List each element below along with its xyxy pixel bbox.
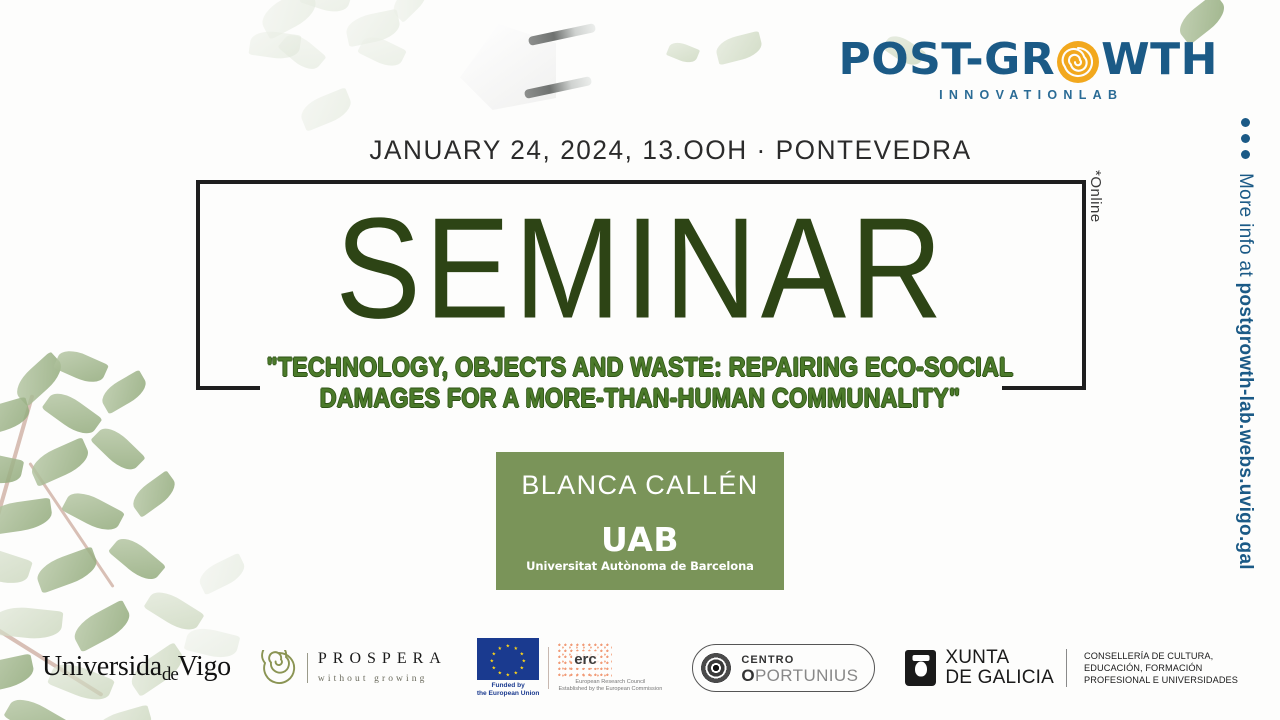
logo-eu-erc: Funded by the European Union erc Europea… [477, 644, 663, 692]
more-info-link[interactable]: postgrowth-lab.webs.uvigo.gal [1235, 283, 1256, 570]
logo-tagline: INNOVATIONLAB [838, 88, 1218, 102]
erc-caption: European Research Council Established by… [558, 679, 662, 694]
more-info-url[interactable]: More info at postgrowth-lab.webs.uvigo.g… [1234, 173, 1256, 570]
divider [1066, 649, 1067, 687]
oportunius-line1: CENTRO [741, 654, 794, 666]
xunta-dept-line1: CONSELLERÍA DE CULTURA, [1084, 651, 1213, 661]
more-info-prefix: More info at [1235, 173, 1256, 283]
eu-caption: Funded by the European Union [477, 682, 540, 698]
oportunius-line2: OPORTUNIUS [741, 666, 858, 685]
uvigo-part3: Vigo [178, 651, 231, 682]
xunta-name: XUNTA DE GALICIA [945, 648, 1054, 688]
erc-caption-line2: Established by the European Commission [558, 686, 662, 692]
post-growth-logo: POST-GR WTH INNOVATIONLAB [838, 38, 1218, 102]
erc-caption-line1: European Research Council [575, 679, 645, 685]
leaf-decor [714, 31, 764, 65]
eu-funding-logo: Funded by the European Union [477, 638, 540, 698]
online-note: *Online [1087, 170, 1104, 223]
prospera-name: PROSPERA [318, 650, 447, 667]
speaker-name: BLANCA CALLÉN [521, 470, 758, 501]
oportunius-rest: PORTUNIUS [755, 666, 858, 685]
divider [307, 653, 308, 683]
oportunius-initial: O [741, 666, 755, 685]
uvigo-wordmark: UniversidadeVigo [42, 651, 231, 686]
seminar-poster: POST-GR WTH INNOVATIONLAB JANUARY 24, 20… [0, 0, 1280, 720]
event-date-location: JANUARY 24, 2024, 13.OOH · PONTEVEDRA [369, 135, 971, 166]
uab-full-name: Universitat Autònoma de Barcelona [526, 559, 754, 573]
eu-caption-line1: Funded by [491, 682, 524, 689]
logo-word-before: POST-GR [838, 38, 1055, 82]
seminar-subtitle: "TECHNOLOGY, OBJECTS AND WASTE: REPAIRIN… [253, 352, 1027, 415]
uvigo-part1: Universida [42, 651, 162, 682]
target-icon [700, 652, 732, 684]
electrical-plug-icon [440, 0, 600, 120]
page-title: SEMINAR [196, 192, 1086, 347]
subtitle-line-2: DAMAGES FOR A MORE-THAN-HUMAN COMMUNALIT… [253, 383, 1027, 414]
xunta-department: CONSELLERÍA DE CULTURA, EDUCACIÓN, FORMA… [1084, 650, 1238, 686]
xunta-name-line2: DE GALICIA [945, 667, 1054, 688]
prospera-tagline: without growing [318, 674, 428, 684]
logo-xunta-galicia: XUNTA DE GALICIA CONSELLERÍA DE CULTURA,… [905, 644, 1238, 692]
logo-centro-oportunius: CENTRO OPORTUNIUS [692, 644, 875, 692]
erc-logo: erc European Research Council Establishe… [558, 643, 662, 694]
uab-logo: UAB Universitat Autònoma de Barcelona [526, 523, 754, 573]
logo-universidade-vigo: UniversidadeVigo [42, 644, 231, 692]
galicia-shield-icon [905, 650, 936, 686]
logo-prospera: PROSPERA without growing [261, 644, 447, 692]
xunta-dept-line2: EDUCACIÓN, FORMACIÓN [1084, 663, 1202, 673]
logo-wordmark: POST-GR WTH [838, 38, 1218, 82]
xunta-name-line1: XUNTA [945, 647, 1009, 668]
erc-wordmark: erc [572, 651, 599, 668]
eu-caption-line2: the European Union [477, 690, 540, 697]
snail-spiral-icon [1056, 40, 1100, 84]
eu-flag-icon [477, 638, 539, 680]
uab-acronym: UAB [526, 523, 754, 556]
xunta-dept-line3: PROFESIONAL E UNIVERSIDADES [1084, 675, 1238, 685]
three-dots-icon [1241, 118, 1250, 159]
logo-word-after: WTH [1101, 38, 1218, 82]
subtitle-line-1: "TECHNOLOGY, OBJECTS AND WASTE: REPAIRIN… [253, 352, 1027, 383]
divider [548, 647, 549, 689]
frame-top-border [196, 180, 1086, 184]
speaker-card: BLANCA CALLÉN UAB Universitat Autònoma d… [496, 452, 784, 590]
spiral-icon [261, 650, 297, 686]
uvigo-part2: de [162, 664, 178, 685]
more-info-block[interactable]: More info at postgrowth-lab.webs.uvigo.g… [1234, 118, 1256, 570]
leaf-decor [666, 39, 700, 66]
frame-bottom-left-border [196, 386, 260, 390]
sponsor-logos: UniversidadeVigo PROSPERA without growin… [0, 638, 1280, 698]
